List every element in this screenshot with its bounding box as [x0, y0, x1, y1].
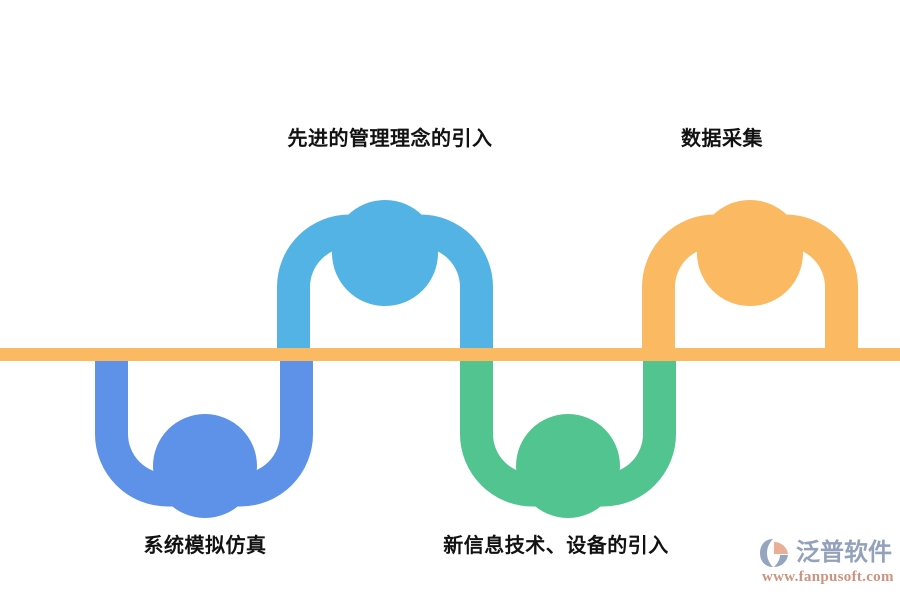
node-shape-data-collection [659, 200, 842, 361]
node-circle-simulation [153, 414, 257, 518]
label-new-infotech: 新信息技术、设备的引入 [443, 535, 669, 557]
brand-row: 泛普软件 [760, 536, 892, 570]
node-circle-data-collection [697, 200, 803, 306]
node-circle-management-concept [332, 200, 438, 306]
label-simulation: 系统模拟仿真 [144, 535, 267, 557]
label-data-collection: 数据采集 [681, 128, 763, 150]
node-shape-simulation [112, 348, 297, 518]
wave-process-diagram [0, 0, 900, 600]
node-shape-new-infotech [477, 348, 660, 518]
fanpu-swoosh-logo-icon [760, 538, 792, 568]
node-shape-management-concept [294, 200, 477, 361]
diagram-canvas: 先进的管理理念的引入 数据采集 系统模拟仿真 新信息技术、设备的引入 泛普软件 … [0, 0, 900, 600]
label-management-concept: 先进的管理理念的引入 [288, 128, 493, 150]
node-circle-new-infotech [516, 414, 620, 518]
brand-url: www.fanpusoft.com [762, 569, 894, 586]
brand-watermark: 泛普软件 www.fanpusoft.com [760, 536, 896, 594]
horizontal-axis-line [0, 348, 900, 361]
brand-name: 泛普软件 [796, 541, 892, 565]
